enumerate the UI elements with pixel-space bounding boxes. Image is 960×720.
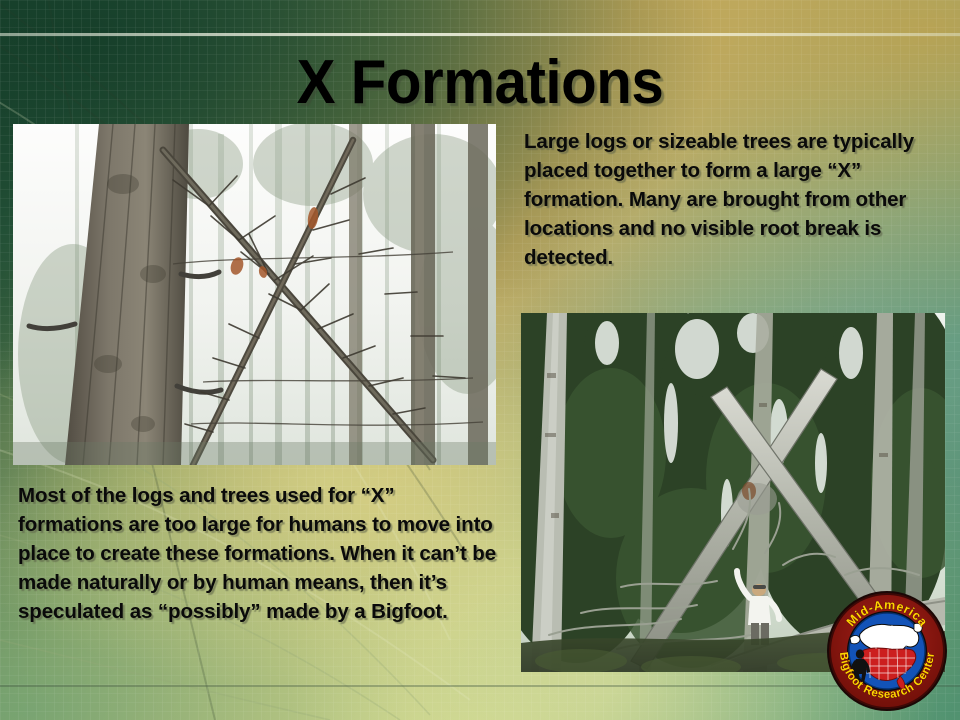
photo1-illustration: [13, 124, 496, 465]
paragraph-right: Large logs or sizeable trees are typical…: [524, 127, 948, 272]
bottom-divider-line: [0, 685, 960, 687]
photo-x-formation-left: [13, 124, 496, 465]
slide-canvas: X Formations: [0, 0, 960, 720]
paragraph-left: Most of the logs and trees used for “X” …: [18, 481, 504, 626]
top-divider-line: [0, 33, 960, 36]
logo-badge-graphic: Mid-America Bigfoot Research Center: [826, 590, 948, 712]
page-title: X Formations: [29, 52, 931, 114]
mid-america-bigfoot-research-center-logo[interactable]: Mid-America Bigfoot Research Center: [826, 590, 948, 712]
